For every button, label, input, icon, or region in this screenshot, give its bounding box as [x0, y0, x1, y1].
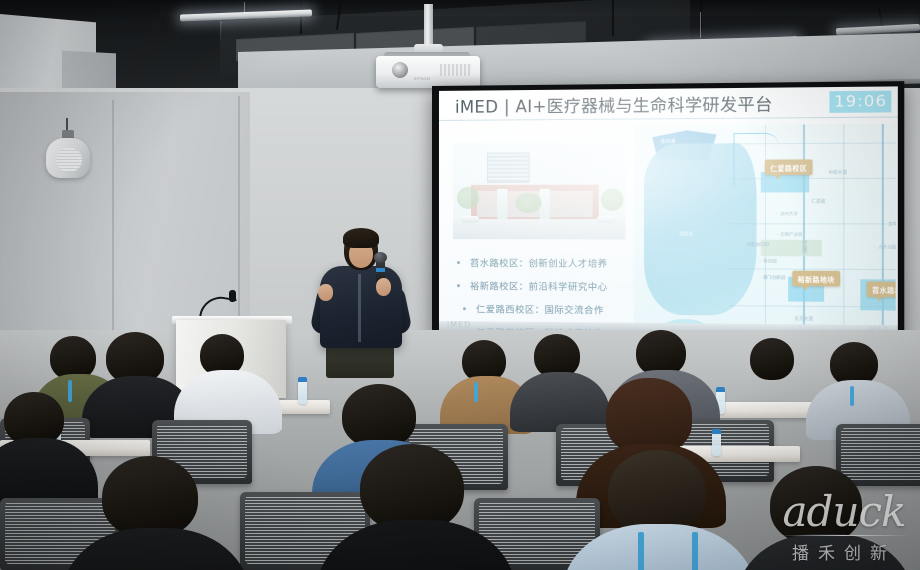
- speaker-grille: [56, 148, 82, 172]
- bullet-text: 仁爱路西校区：国际交流合作: [476, 301, 604, 316]
- photo-tree: [601, 189, 624, 211]
- map-road-label: 星湖街: [801, 240, 807, 254]
- campus-photo: [453, 142, 626, 240]
- projection-screen-frame: iMED | AI+医疗器械与生命科学研发平台: [432, 81, 904, 343]
- attendee-head: [102, 456, 198, 538]
- presenter-torso: [320, 266, 402, 348]
- map-gridline: [729, 178, 895, 179]
- ceiling-cable: [300, 0, 302, 34]
- projector-lens-icon: [392, 62, 408, 78]
- map-poi-label: 独墅湖CBD: [742, 242, 769, 248]
- map-road-label: 仁爱路: [811, 199, 825, 205]
- lanyard: [474, 382, 478, 402]
- microphone-head-icon: [374, 252, 387, 263]
- map-pin-renai[interactable]: 仁爱路校区: [765, 159, 812, 175]
- chair-mesh: [841, 428, 920, 480]
- presenter-hair: [343, 228, 379, 248]
- map-road-label: 中新大道: [828, 170, 847, 176]
- bullet-dot-icon: [463, 307, 466, 310]
- bullet-dot-icon: [457, 284, 460, 287]
- attendee-head: [342, 384, 416, 448]
- photo-tree: [515, 193, 541, 213]
- slide-title: iMED | AI+医疗器械与生命科学研发平台: [455, 90, 773, 117]
- map-poi-label: 生物产业园: [775, 232, 802, 238]
- presenter-left-hand: [318, 284, 333, 301]
- map-poi-label: 腾飞创新园: [759, 275, 786, 281]
- map-gridline: [729, 142, 895, 144]
- attendee-head: [608, 450, 706, 534]
- wall-seam: [112, 100, 114, 368]
- attendee-head: [770, 466, 862, 544]
- projector-vent: [440, 64, 472, 76]
- bottle-cap: [716, 387, 725, 392]
- projector-pole: [424, 4, 433, 48]
- slide-body: 苕水路校区：创新创业人才培养 裕新路校区：前沿科学研究中心 仁爱路西校区：国际交…: [439, 118, 898, 336]
- slide-title-separator: |: [504, 97, 510, 116]
- map-gridline: [729, 223, 895, 224]
- microphone-band: [376, 268, 385, 272]
- slide-title-cn: AI+医疗器械与生命科学研发平台: [515, 94, 772, 116]
- map-pin-tiaoshui[interactable]: 苕水路地块: [867, 281, 896, 297]
- attendee-head: [606, 378, 692, 454]
- lanyard: [68, 380, 72, 402]
- map-area-label: 独墅湖: [679, 231, 693, 237]
- bullet-dot-icon: [457, 261, 460, 264]
- photo-building: [487, 153, 529, 183]
- slide-logo: iMED: [447, 320, 471, 329]
- map-poi-label: 科技园: [759, 258, 777, 264]
- water-bottle: [712, 432, 721, 456]
- map-pin-yuxin[interactable]: 裕新路地块: [792, 271, 840, 287]
- list-item: 裕新路校区：前沿科学研究中心: [457, 278, 608, 293]
- bullet-text: 裕新路校区：前沿科学研究中心: [470, 278, 608, 293]
- lanyard: [638, 532, 644, 570]
- photo-car: [461, 216, 479, 223]
- list-item: 仁爱路西校区：国际交流合作: [457, 301, 608, 316]
- photo-car: [597, 216, 615, 223]
- map-road-label: 文萃路: [888, 221, 896, 227]
- slide-title-en: iMED: [455, 97, 498, 116]
- microphone-capsule-icon: [229, 290, 236, 302]
- lanyard: [850, 386, 854, 406]
- pendant-stem: [700, 12, 701, 38]
- clock-overlay: 19:06: [830, 91, 892, 113]
- water-bottle: [298, 380, 307, 404]
- photo-pillar: [497, 189, 507, 219]
- projector-brand-label: EPSON: [414, 76, 430, 81]
- photo-scene: EPSON iMED | AI+医疗器械与生命科学研发平台: [0, 0, 920, 570]
- attendee-head: [360, 444, 464, 532]
- map-road-label: 东方大道: [794, 316, 813, 322]
- map-poi-label: 苏州大学: [775, 211, 797, 217]
- bottle-cap: [298, 377, 307, 382]
- projection-screen: iMED | AI+医疗器械与生命科学研发平台: [439, 86, 898, 335]
- bottle-cap: [712, 429, 721, 434]
- presenter-shirt-placket: [358, 274, 361, 342]
- list-item: 苕水路校区：创新创业人才培养: [457, 255, 608, 270]
- ceiling-cable: [612, 0, 614, 36]
- lanyard: [692, 532, 698, 570]
- map-parcel-green: [761, 240, 822, 257]
- bullet-text: 苕水路校区：创新创业人才培养: [470, 255, 608, 270]
- photo-tree: [457, 187, 479, 209]
- presenter-right-hand: [376, 278, 391, 296]
- map-poi-label: 人才公园: [873, 244, 896, 250]
- campus-map: 金鸡湖 独墅湖: [634, 124, 896, 325]
